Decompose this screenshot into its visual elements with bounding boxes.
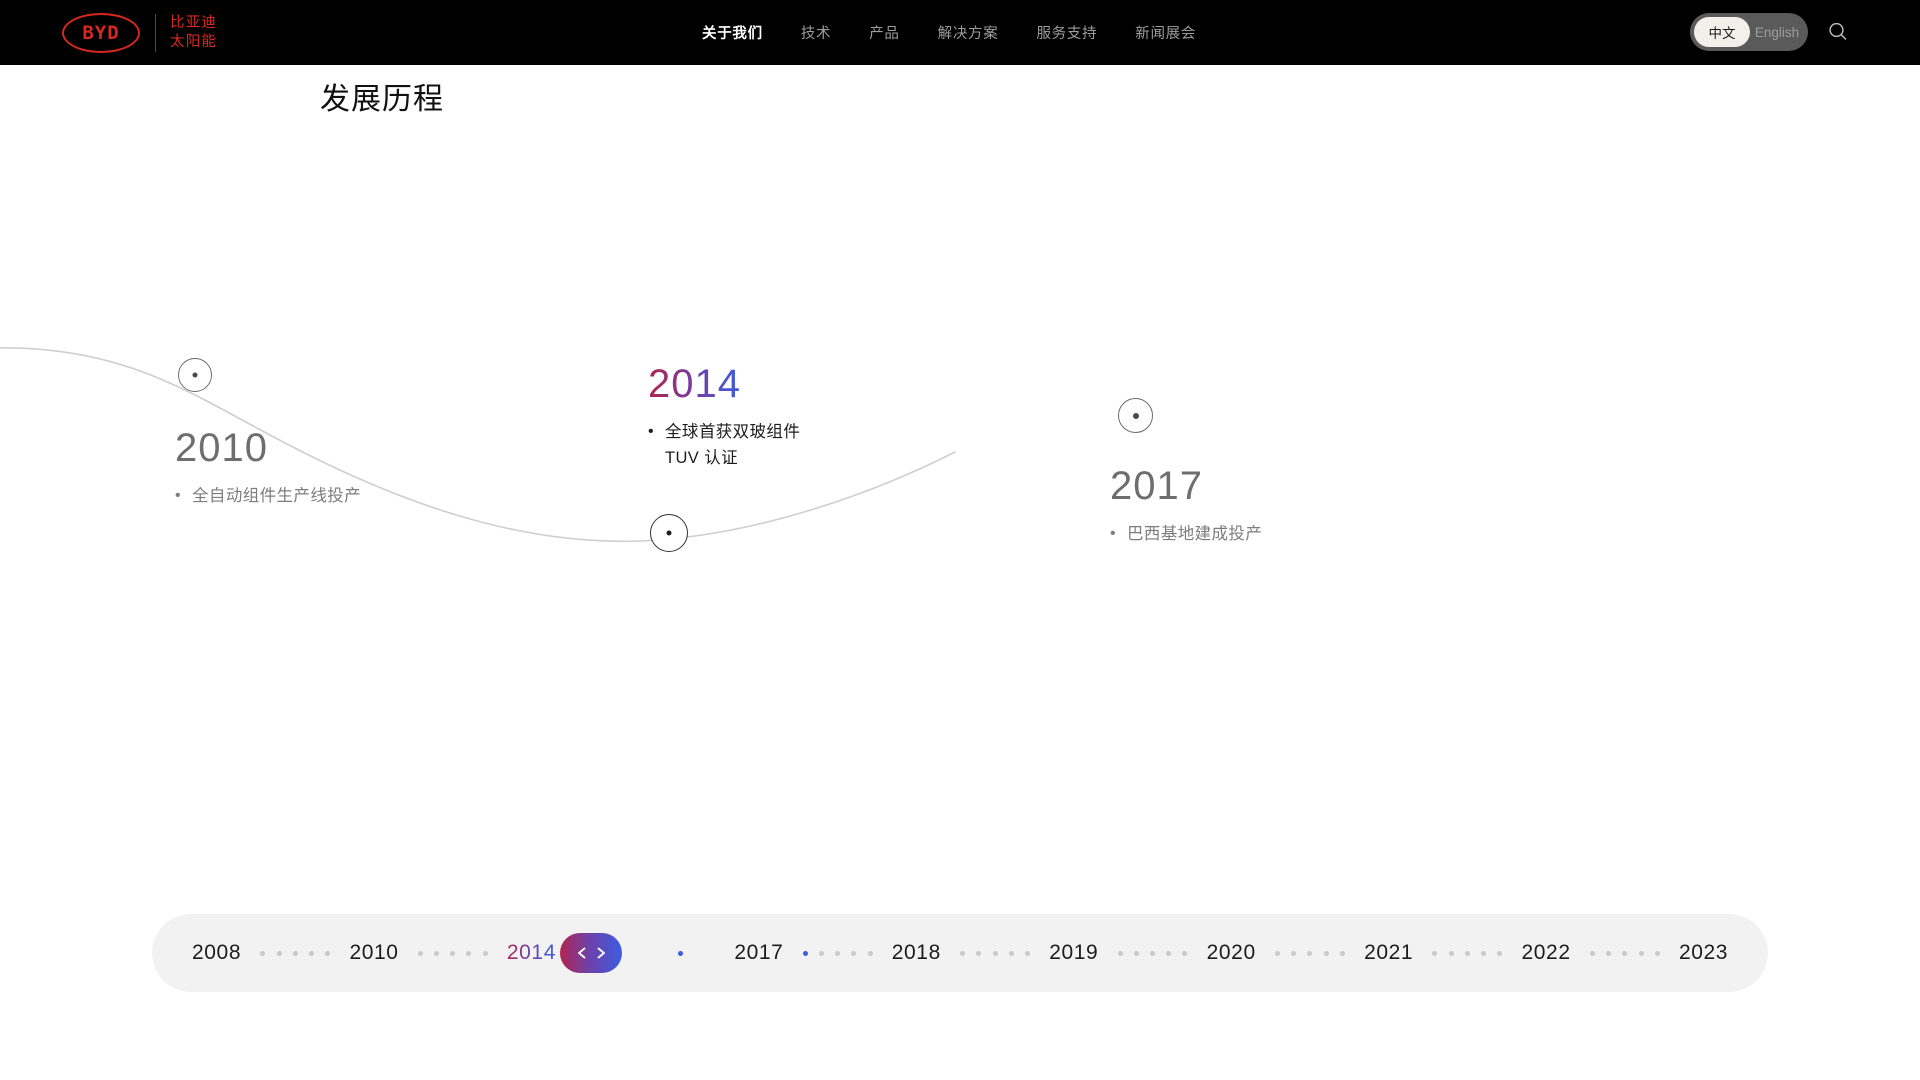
year-2010[interactable]: 2010 [349,941,398,965]
list-item: • 全球首获双玻组件 TUV 认证 [648,420,800,471]
separator-dot [1118,951,1123,956]
separator-dot [960,951,965,956]
timeline-node-2014[interactable] [650,514,688,552]
separator-dot [1291,951,1296,956]
separator-dot-active [678,951,683,956]
separator-dot [1622,951,1627,956]
separator-dot-active [803,951,808,956]
separator-dot [1606,951,1611,956]
separator-dot [1275,951,1280,956]
separator-dot [1307,951,1312,956]
year-2019[interactable]: 2019 [1049,941,1098,965]
separator-dot [976,951,981,956]
milestone-2017: 2017 • 巴西基地建成投产 [1110,466,1262,548]
year-dots-7 [1256,951,1364,956]
list-item-text: 全自动组件生产线投产 [192,484,361,510]
separator-dot [434,951,439,956]
separator-dot [1655,951,1660,956]
milestone-year: 2010 [175,428,361,468]
separator-dot [309,951,314,956]
milestone-items: • 全自动组件生产线投产 [175,484,361,510]
list-item-text-2: TUV 认证 [665,449,738,467]
separator-dot [1009,951,1014,956]
separator-dot [1449,951,1454,956]
milestone-year: 2014 [648,364,741,404]
list-item: • 巴西基地建成投产 [1110,522,1262,548]
list-item-text: 全球首获双玻组件 [665,423,800,441]
separator-dot [851,951,856,956]
separator-dot [1465,951,1470,956]
list-item-text: 巴西基地建成投产 [1127,522,1262,548]
separator-dot [819,951,824,956]
list-item: • 全自动组件生产线投产 [175,484,361,510]
year-2018[interactable]: 2018 [892,941,941,965]
separator-dot [1639,951,1644,956]
year-dots-8 [1413,951,1521,956]
chevron-right-icon [594,946,607,960]
year-nav-control[interactable] [560,933,622,973]
bullet-icon: • [648,420,654,471]
separator-dot [1432,951,1437,956]
separator-dot [1324,951,1329,956]
milestone-2014: 2014 • 全球首获双玻组件 TUV 认证 [648,364,800,471]
separator-dot [293,951,298,956]
year-2021[interactable]: 2021 [1364,941,1413,965]
separator-dot [1497,951,1502,956]
separator-dot [1481,951,1486,956]
year-dots-4 [783,951,891,956]
year-2023[interactable]: 2023 [1679,941,1728,965]
year-2022[interactable]: 2022 [1522,941,1571,965]
separator-dot [260,951,265,956]
year-dots-2 [399,951,507,956]
timeline-node-dot [667,531,672,536]
year-dots-6 [1098,951,1206,956]
separator-dot [277,951,282,956]
year-dots-1 [241,951,349,956]
year-2017[interactable]: 2017 [734,941,783,965]
milestone-2010: 2010 • 全自动组件生产线投产 [175,428,361,510]
bullet-icon: • [1110,522,1116,548]
timeline-node-2017[interactable] [1118,398,1153,433]
year-dots-3 [626,951,734,956]
year-dots-9 [1571,951,1679,956]
separator-dot [325,951,330,956]
separator-dot [483,951,488,956]
separator-dot [1590,951,1595,956]
bullet-icon: • [175,484,181,510]
chevron-left-icon [576,946,589,960]
year-scrubber: 2008 2010 2014 2017 2018 [152,914,1768,992]
milestone-items: • 全球首获双玻组件 TUV 认证 [648,420,800,471]
milestone-year: 2017 [1110,466,1262,506]
separator-dot [868,951,873,956]
timeline-node-2010[interactable] [178,358,212,392]
separator-dot [1134,951,1139,956]
separator-dot [1166,951,1171,956]
separator-dot [1025,951,1030,956]
year-2014-selected[interactable]: 2014 [507,941,556,965]
milestone-items: • 巴西基地建成投产 [1110,522,1262,548]
separator-dot [466,951,471,956]
separator-dot [835,951,840,956]
year-2020[interactable]: 2020 [1207,941,1256,965]
year-2008[interactable]: 2008 [192,941,241,965]
year-dots-5 [941,951,1049,956]
separator-dot [1150,951,1155,956]
timeline-node-dot [1133,413,1139,419]
separator-dot [1182,951,1187,956]
separator-dot [450,951,455,956]
separator-dot [1340,951,1345,956]
timeline-node-dot [193,373,198,378]
separator-dot [418,951,423,956]
separator-dot [993,951,998,956]
